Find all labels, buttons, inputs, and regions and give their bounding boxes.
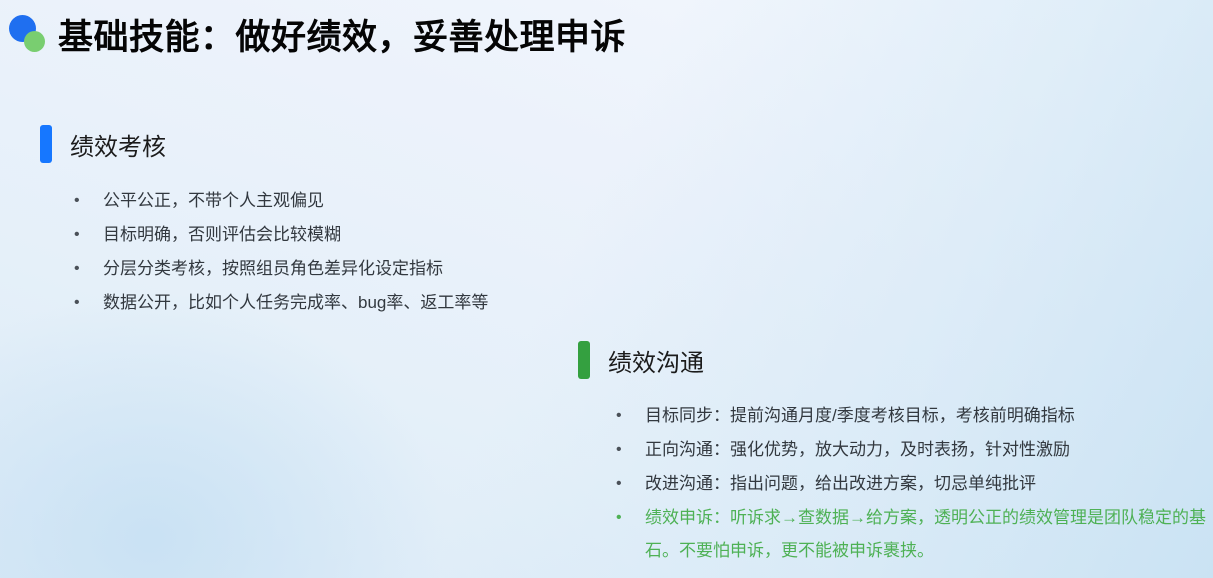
bullet-dot-icon: • [616,433,645,467]
bullet-dot-icon: • [74,252,103,286]
slide-header: 基础技能：做好绩效，妥善处理申诉 [0,0,626,60]
section-assessment-bullet-list: • 公平公正，不带个人主观偏见 • 目标明确，否则评估会比较模糊 • 分层分类考… [74,184,488,320]
bullet-dot-icon: • [616,501,645,535]
bullet-dot-icon: • [616,467,645,501]
bullet-dot-icon: • [616,399,645,433]
section-communication-title: 绩效沟通 [608,343,704,378]
section-communication-bullet-list: • 目标同步：提前沟通月度/季度考核目标，考核前明确指标 • 正向沟通：强化优势… [616,399,1213,567]
bullet-dot-icon: • [74,184,103,218]
list-item-text: 目标明确，否则评估会比较模糊 [103,218,488,251]
list-item-text: 绩效申诉：听诉求→查数据→给方案，透明公正的绩效管理是团队稳定的基石。不要怕申诉… [645,501,1211,567]
logo-green-circle-icon [24,31,45,52]
accent-bar-green-icon [578,341,590,379]
list-item: • 改进沟通：指出问题，给出改进方案，切忌单纯批评 [616,467,1213,501]
bullet-dot-icon: • [74,286,103,320]
list-item-text: 公平公正，不带个人主观偏见 [103,184,488,217]
page-title: 基础技能：做好绩效，妥善处理申诉 [58,9,626,60]
list-item: • 分层分类考核，按照组员角色差异化设定指标 [74,252,488,286]
list-item: • 正向沟通：强化优势，放大动力，及时表扬，针对性激励 [616,433,1213,467]
brand-logo-icon [7,13,53,59]
list-item: • 公平公正，不带个人主观偏见 [74,184,488,218]
list-item: • 目标同步：提前沟通月度/季度考核目标，考核前明确指标 [616,399,1213,433]
list-item-text: 数据公开，比如个人任务完成率、bug率、返工率等 [103,286,488,319]
section-assessment: 绩效考核 • 公平公正，不带个人主观偏见 • 目标明确，否则评估会比较模糊 • … [40,125,488,320]
slide-canvas: 基础技能：做好绩效，妥善处理申诉 绩效考核 • 公平公正，不带个人主观偏见 • … [0,0,1213,578]
list-item-text: 目标同步：提前沟通月度/季度考核目标，考核前明确指标 [645,399,1211,432]
list-item-text: 分层分类考核，按照组员角色差异化设定指标 [103,252,488,285]
list-item-highlighted: • 绩效申诉：听诉求→查数据→给方案，透明公正的绩效管理是团队稳定的基石。不要怕… [616,501,1213,567]
section-assessment-header: 绩效考核 [40,125,488,163]
accent-bar-blue-icon [40,125,52,163]
list-item-text: 改进沟通：指出问题，给出改进方案，切忌单纯批评 [645,467,1211,500]
list-item: • 数据公开，比如个人任务完成率、bug率、返工率等 [74,286,488,320]
section-assessment-title: 绩效考核 [70,127,166,162]
list-item: • 目标明确，否则评估会比较模糊 [74,218,488,252]
section-communication-header: 绩效沟通 [578,341,1213,379]
section-communication: 绩效沟通 • 目标同步：提前沟通月度/季度考核目标，考核前明确指标 • 正向沟通… [578,341,1213,567]
bullet-dot-icon: • [74,218,103,252]
list-item-text: 正向沟通：强化优势，放大动力，及时表扬，针对性激励 [645,433,1211,466]
